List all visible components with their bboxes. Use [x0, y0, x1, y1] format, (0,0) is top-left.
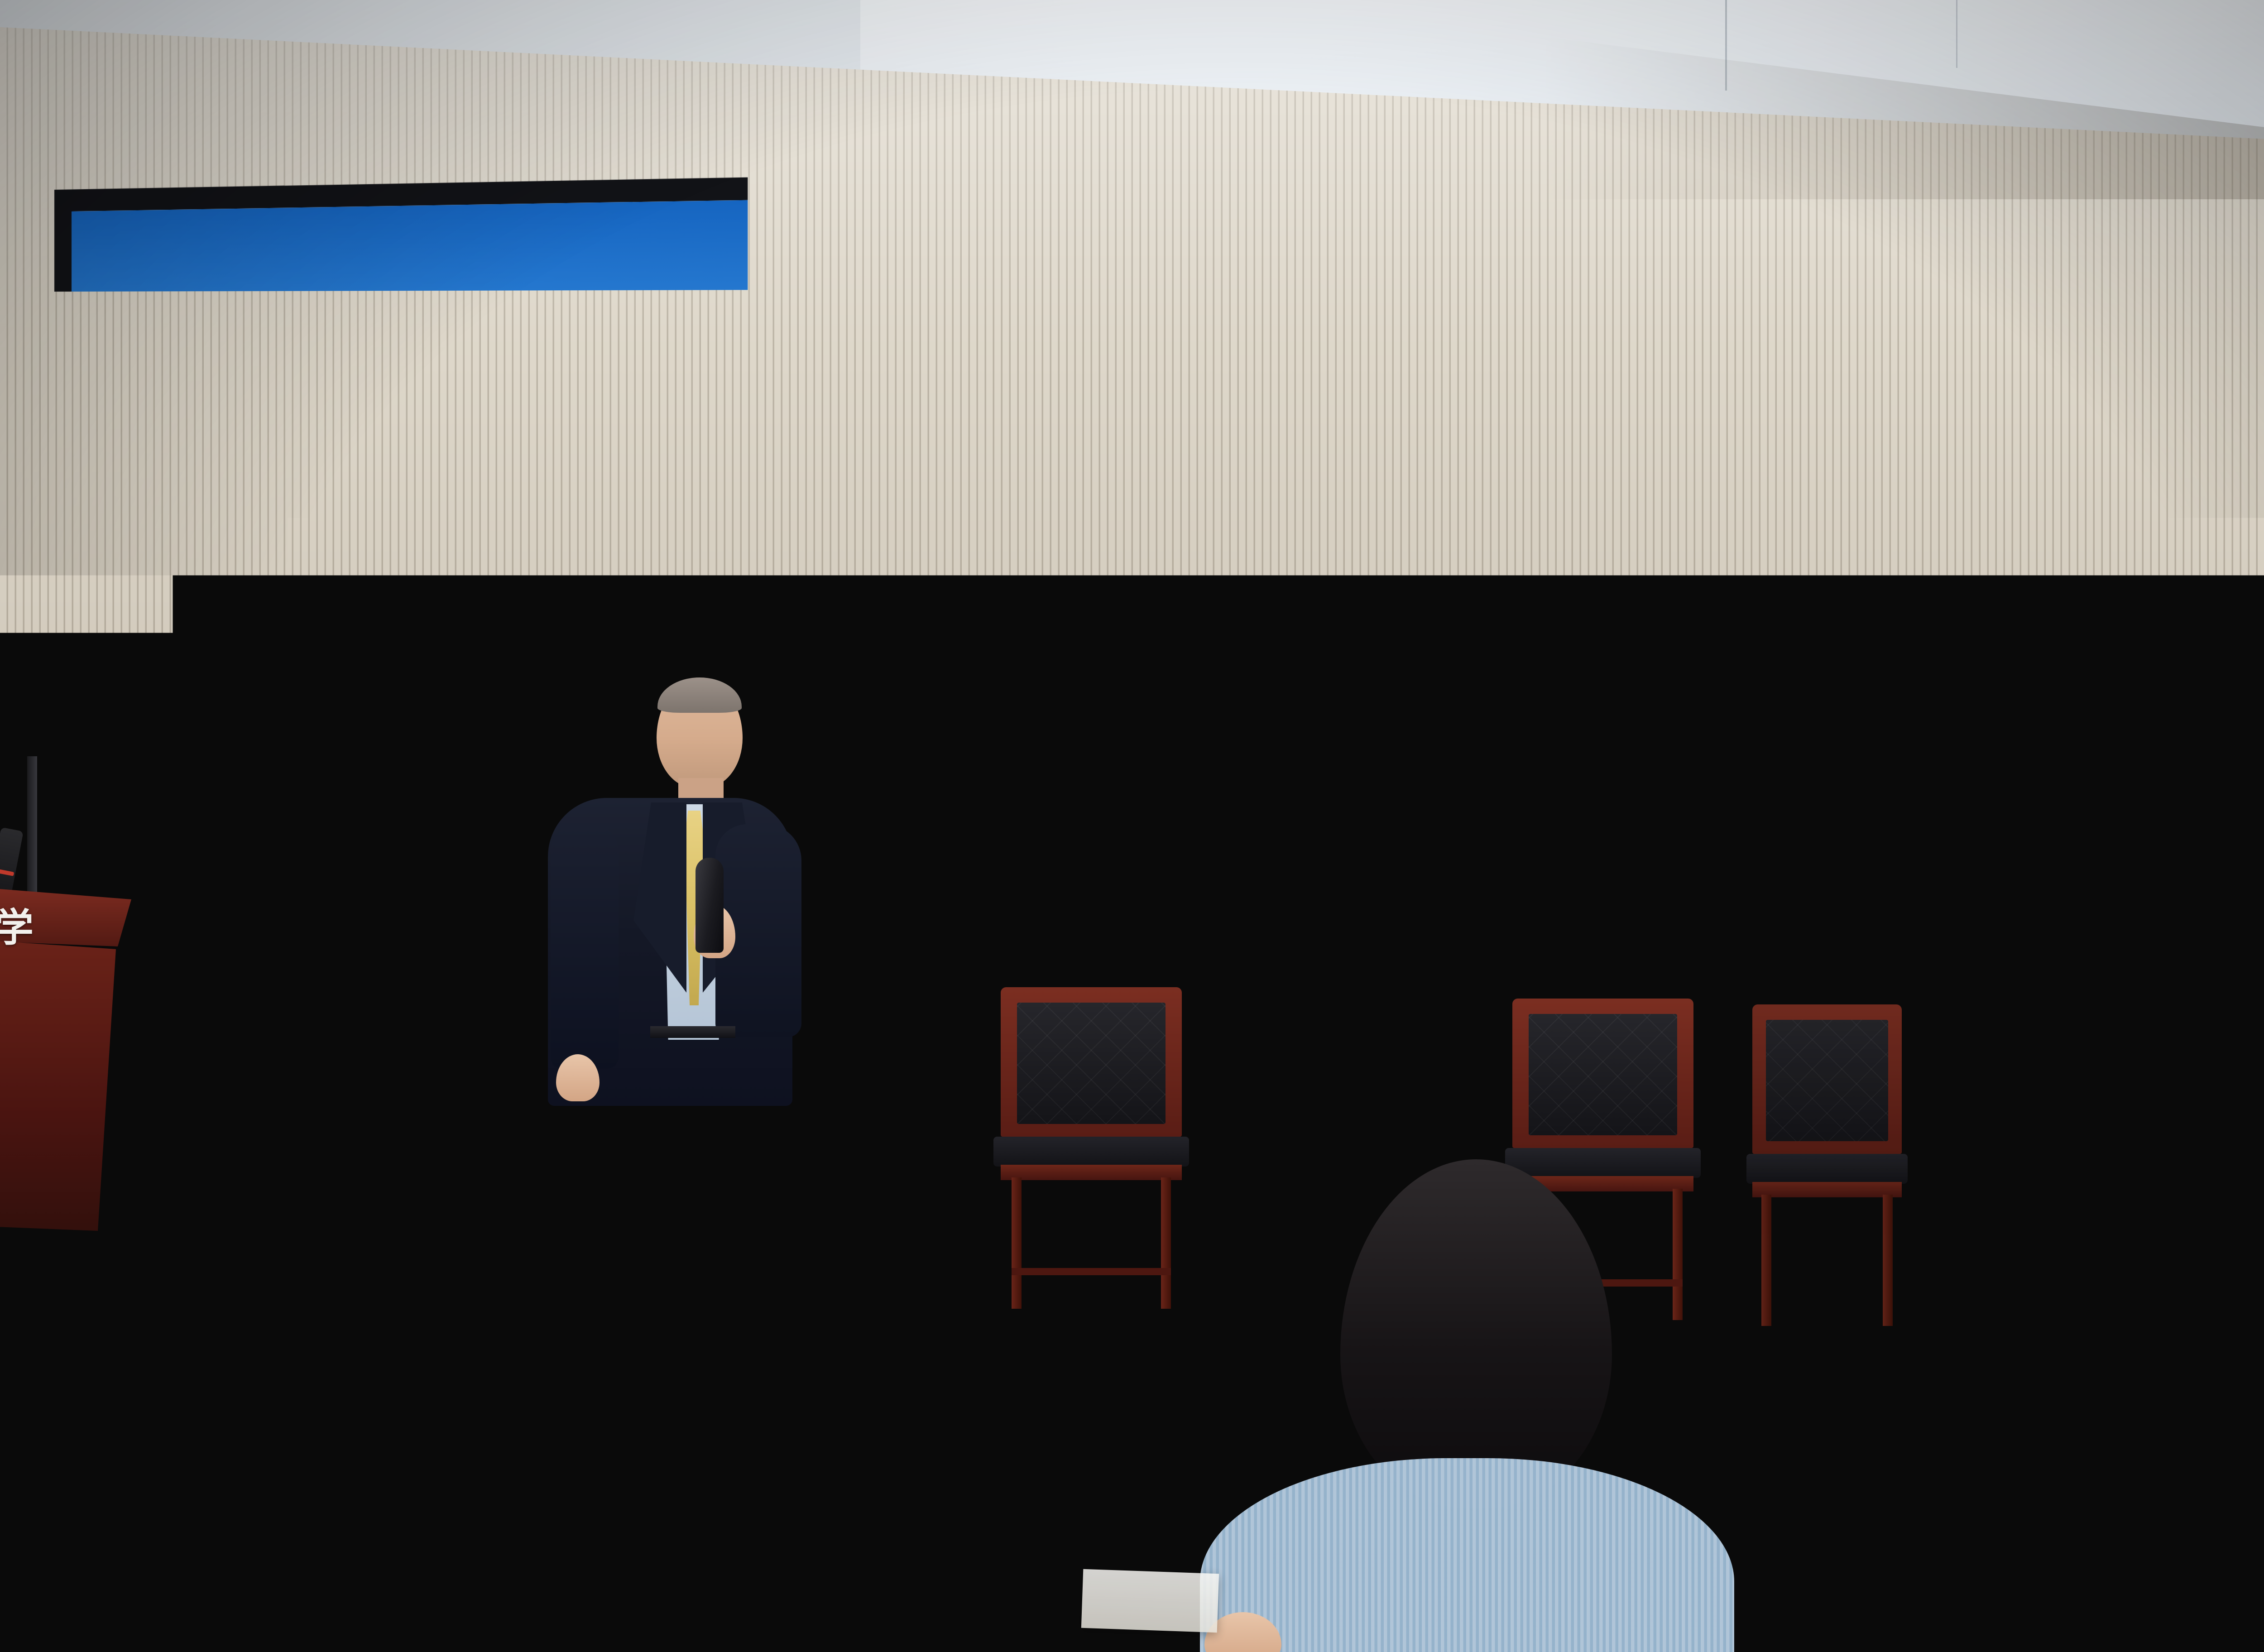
- checklist-icon: [1594, 597, 1873, 689]
- stage-chair[interactable]: [1752, 1004, 1902, 1321]
- water-bottle: Ganten: [1798, 1413, 1852, 1594]
- stage-chair[interactable]: [1988, 1010, 2169, 1340]
- airplane-icon: [1279, 418, 1519, 510]
- svg-text:and Faculty: and Faculty: [744, 476, 869, 507]
- ceiling-wire-secondary: [1956, 0, 1957, 68]
- piggy-bank-icon: [1529, 413, 1789, 505]
- led-video-wall[interactable]: 1950 北京工商大学 BEIJING TECHNOLOGY AND BUSIN…: [54, 166, 2264, 1025]
- presenter-arm-left: [551, 824, 619, 1069]
- podium-mic-pole: [27, 756, 37, 892]
- handheld-microphone[interactable]: [696, 858, 724, 953]
- lectern-podium[interactable]: 学: [0, 888, 145, 1232]
- benefit-cell-positive-impact: Using your talent to create a positive i…: [1279, 597, 1566, 828]
- slide-footer-divider: [965, 908, 2264, 912]
- table-panel-segment: [408, 1129, 720, 1328]
- benefit-caption: Job security: actuaries are always in de…: [1021, 704, 1251, 827]
- benefit-cell-international: International opportunities: [1279, 418, 1519, 587]
- bottle-cap: [1809, 1413, 1840, 1435]
- stage-monitor-speaker: [5, 1331, 195, 1463]
- stage-chair[interactable]: [1001, 987, 1182, 1318]
- benefit-cell-transferrable-skills: Development of highly transferrable skil…: [1808, 413, 2088, 614]
- podium-emblem-glyph: 学: [0, 896, 34, 952]
- benefit-caption: Remuneration and financial reward: [1529, 521, 1789, 583]
- ifoa-crest-icon: [622, 439, 717, 536]
- gear-icon: [1808, 413, 2088, 505]
- presenter-speaker: [521, 675, 801, 1109]
- slide-page-number: 3: [2242, 929, 2255, 953]
- podium-body: [0, 941, 116, 1231]
- svg-text:of Actuaries: of Actuaries: [2082, 869, 2205, 892]
- led-screen-surface: 1950 北京工商大学 BEIJING TECHNOLOGY AND BUSIN…: [72, 191, 2264, 994]
- plus-circle-icon: [1279, 597, 1566, 689]
- benefit-cell-job-security: Job security: actuaries are always in de…: [1021, 597, 1251, 827]
- benefit-caption: Using your talent to create a positive i…: [1279, 704, 1566, 828]
- svg-text:Institute: Institute: [744, 445, 869, 476]
- slide-title-english: Why become an Actuary?: [1007, 265, 1815, 345]
- stairs-arrow-icon: [965, 419, 1260, 510]
- desk-microphone[interactable]: [1195, 1065, 1250, 1108]
- svg-text:Institute: Institute: [2082, 821, 2168, 844]
- btbu-university-seal-icon: 1950 北京工商大学 BEIJING TECHNOLOGY AND BUSIN…: [144, 370, 262, 502]
- benefit-cell-remuneration: Remuneration and financial reward: [1529, 413, 1789, 583]
- padlock-icon: [1021, 597, 1251, 689]
- bottle-label: Ganten: [1798, 1482, 1852, 1536]
- svg-text:BEIJING TECHNOLOGY AND BUSINES: BEIJING TECHNOLOGY AND BUSINESS UNIVERSI…: [144, 382, 262, 389]
- benefit-caption: Respected global community with internat…: [1594, 705, 1873, 860]
- svg-text:and Faculty: and Faculty: [2082, 845, 2200, 868]
- presenter-belt: [650, 1026, 735, 1038]
- ifoa-crest-icon: [1993, 812, 2057, 888]
- ifoa-logo-footer: Institute and Faculty of Actuaries: [1980, 802, 2228, 904]
- presenter-hair: [657, 677, 742, 713]
- benefit-caption: International opportunities: [1279, 526, 1519, 587]
- conference-hall-scene: 1950 北京工商大学 BEIJING TECHNOLOGY AND BUSIN…: [0, 0, 2264, 1652]
- slide-why-become-actuary: Why become an Actuary? Solid career path…: [915, 191, 2264, 994]
- svg-text:北京工商大学: 北京工商大学: [171, 476, 235, 487]
- audience-head: [1340, 1159, 1612, 1508]
- audience-member-front-left: [1200, 1159, 1734, 1652]
- benefit-cell-global-community: Respected global community with internat…: [1594, 597, 1873, 860]
